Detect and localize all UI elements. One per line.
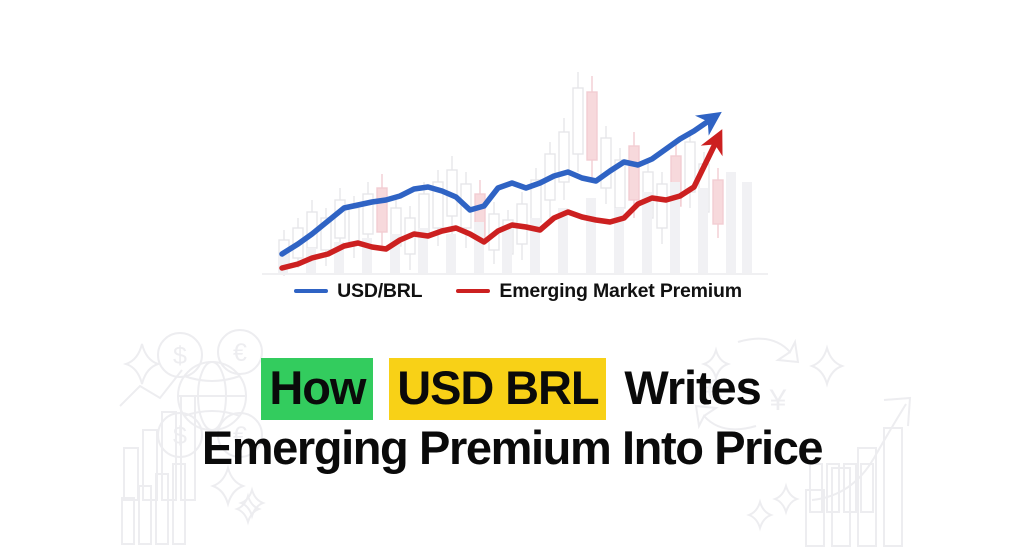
legend-item-usd-brl[interactable]: USD/BRL: [294, 280, 422, 303]
legend-swatch-emerging-premium: [456, 289, 490, 293]
legend-item-emerging-premium[interactable]: Emerging Market Premium: [456, 280, 741, 303]
headline-word-writes: Writes: [622, 358, 762, 420]
poster-canvas: $ $ € €: [0, 0, 1024, 559]
headline-line-2: Emerging Premium Into Price: [0, 420, 1024, 476]
chart-legend: USD/BRL Emerging Market Premium: [248, 274, 788, 308]
sparkle-icon: [749, 502, 771, 528]
headline-space-2: [606, 358, 622, 420]
chart-svg: [248, 22, 788, 312]
headline-space-1: [373, 358, 389, 420]
sparkle-icon: [237, 496, 259, 522]
legend-swatch-usd-brl: [294, 289, 328, 293]
legend-label-emerging-premium: Emerging Market Premium: [499, 280, 741, 303]
headline: How USD BRL Writes Emerging Premium Into…: [0, 358, 1024, 476]
headline-line-1: How USD BRL Writes: [0, 358, 1024, 420]
sparkle-icon: [241, 490, 263, 516]
bar-chart-icon: [122, 464, 185, 544]
sparkle-icon: [775, 486, 797, 512]
headline-word-how: How: [261, 358, 373, 420]
legend-label-usd-brl: USD/BRL: [337, 280, 422, 303]
line-chart: [248, 22, 788, 312]
headline-word-usd-brl: USD BRL: [389, 358, 606, 420]
